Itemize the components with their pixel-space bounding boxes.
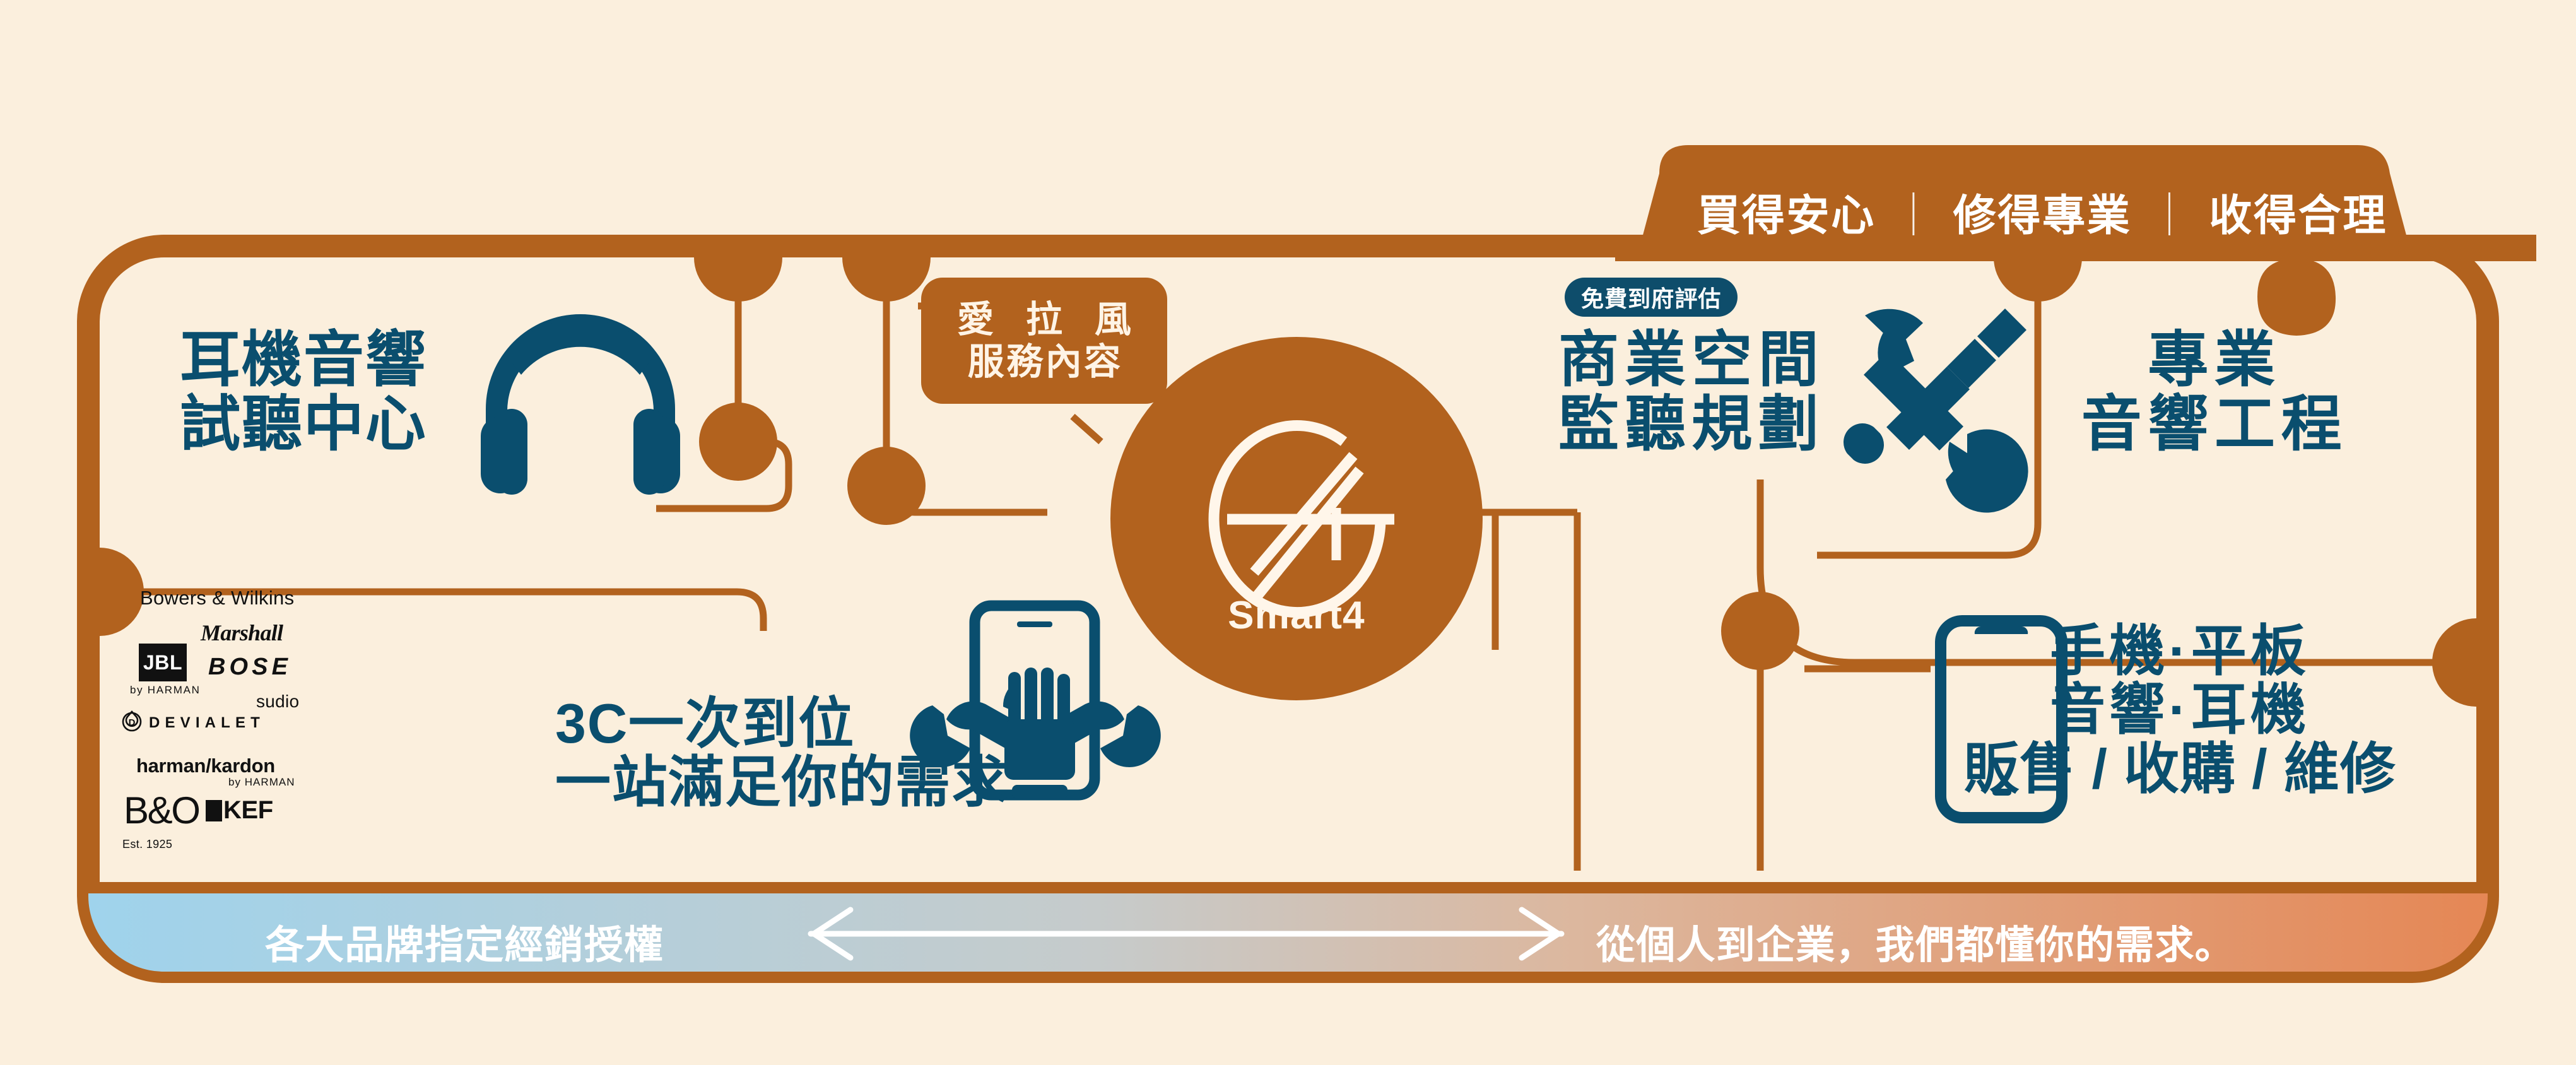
infographic-root: 買得安心 ｜ 修得專業 ｜ 收得合理 Smart4 愛 拉 風 服務內容 耳機音… [0,0,2576,1065]
three-c-line2: 一站滿足你的需求 [555,753,1008,811]
service-tag-line1: 愛 拉 風 [946,298,1143,341]
section-commercial: 商業空間 監聽規劃 [1558,328,1825,457]
center-logo-wordmark: Smart4 [1218,593,1375,638]
headphones-icon [481,314,680,495]
center-logo [1110,337,1483,700]
brand-logo-harman-kardon: harman/kardon [136,755,275,777]
brand-logo-list: Bowers & Wilkins Marshall JBL by HARMAN … [95,587,334,852]
brand-logo-bose: BOSE [208,654,291,681]
banner-separator-2: ｜ [2148,180,2193,243]
brand-logo-bang-olufsen: B&O [124,795,199,826]
three-c-line1: 3C一次到位 [555,694,1008,753]
devialet-mark-icon: D [121,710,143,732]
brand-logo-bowers-wilkins: Bowers & Wilkins [140,587,294,609]
banner-item-2: 修得專業 [1953,180,2132,243]
device-line1: 手機·平板 [1886,621,2473,680]
commercial-line2: 監聽規劃 [1558,392,1825,457]
engineering-line2: 音響工程 [2038,392,2391,457]
commercial-line1: 商業空間 [1558,328,1825,392]
brand-logo-jbl: JBL [139,644,187,681]
brand-logo-devialet: DEVIALET [149,714,265,732]
kef-mark-icon [206,800,222,821]
bottom-bar-left-text: 各大品牌指定經銷授權 [265,913,664,970]
audition-line1: 耳機音響 [180,328,427,392]
wrench-screwdriver-icon [1844,309,2028,512]
banner-item-1: 買得安心 [1697,180,1876,243]
section-engineering: 專業 音響工程 [2038,328,2391,457]
service-tag-line2: 服務內容 [965,341,1122,383]
svg-text:D: D [129,717,136,728]
section-audition: 耳機音響 試聽中心 [180,328,427,457]
service-content-tag: 愛 拉 風 服務內容 [921,278,1167,404]
device-line2: 音響·耳機 [1886,680,2473,739]
brand-logo-kef: KEF [223,796,273,825]
bottom-bar-right-text: 從個人到企業，我們都懂你的需求。 [1596,913,2235,970]
diagram-vector-layer [0,0,2576,1065]
section-three-c: 3C一次到位 一站滿足你的需求 [555,694,1008,812]
section-device-service: 手機·平板 音響·耳機 販售 / 收購 / 維修 [1886,621,2473,798]
device-line3: 販售 / 收購 / 維修 [1886,739,2473,798]
brand-logo-marshall: Marshall [201,620,283,646]
brand-logo-jbl-sub: by HARMAN [130,684,201,697]
top-banner: 買得安心 ｜ 修得專業 ｜ 收得合理 [1697,177,2387,246]
banner-item-3: 收得合理 [2209,180,2387,243]
engineering-line1: 專業 [2038,328,2391,392]
audition-line2: 試聽中心 [180,392,427,457]
brand-logo-harman-kardon-sub: by HARMAN [228,776,295,789]
banner-separator-1: ｜ [1892,180,1937,243]
brand-logo-sudio: sudio [256,691,299,712]
brand-logo-bang-olufsen-sub: Est. 1925 [122,838,172,851]
free-onsite-badge: 免費到府評估 [1565,278,1738,317]
